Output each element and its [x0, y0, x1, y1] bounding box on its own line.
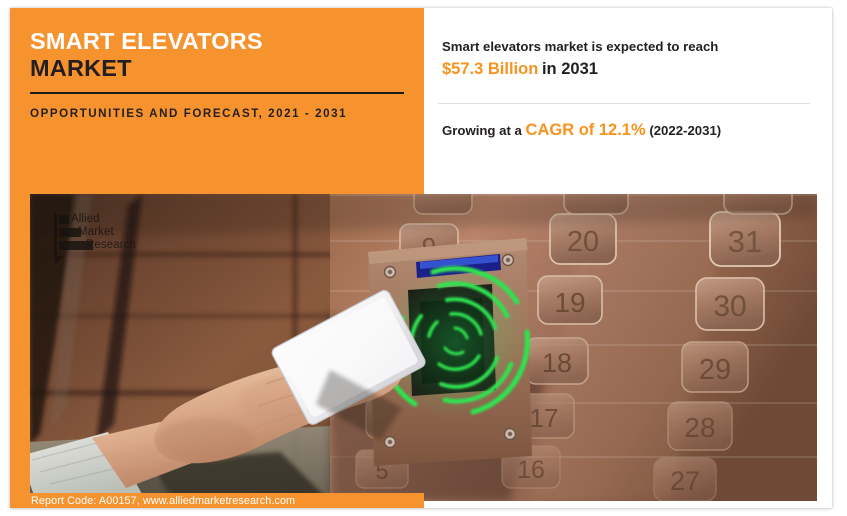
title-divider [30, 92, 404, 94]
svg-text:28: 28 [684, 412, 715, 443]
infographic-card: SMART ELEVATORS MARKET Opportunities and… [10, 8, 832, 508]
fact-cagr: Growing at a CAGR of 12.1% (2022-2031) [442, 118, 814, 142]
svg-text:17: 17 [530, 403, 559, 433]
fact-market-size: Smart elevators market is expected to re… [442, 37, 814, 81]
elevator-photo-illustration: 9 8 7 6 5 20 19 18 [30, 194, 817, 501]
fact-cagr-suffix: (2022-2031) [649, 123, 721, 138]
svg-text:30: 30 [713, 290, 746, 323]
svg-text:31: 31 [728, 224, 762, 259]
svg-text:18: 18 [542, 348, 572, 378]
fact-cagr-prefix: Growing at a [442, 123, 522, 138]
fact-market-size-value: $57.3 Billion [442, 60, 538, 78]
page-title: SMART ELEVATORS MARKET [30, 28, 405, 82]
svg-text:27: 27 [670, 466, 700, 496]
page-subtitle: Opportunities and Forecast, 2021 - 2031 [30, 105, 410, 123]
svg-text:16: 16 [517, 456, 545, 484]
svg-text:20: 20 [567, 226, 599, 258]
key-facts-panel: Smart elevators market is expected to re… [424, 8, 832, 194]
fact-market-size-prefix: Smart elevators market is expected to re… [442, 39, 718, 54]
svg-text:29: 29 [699, 354, 731, 386]
footer-report-code: Report Code: A00157, www.alliedmarketres… [31, 495, 295, 507]
title-line-2: MARKET [30, 55, 405, 82]
facts-divider [438, 103, 810, 104]
fact-cagr-value: CAGR of 12.1% [526, 121, 646, 139]
title-line-1: SMART ELEVATORS [30, 28, 405, 55]
hero-photo: 9 8 7 6 5 20 19 18 [30, 194, 817, 501]
svg-text:19: 19 [554, 287, 585, 318]
fact-market-size-suffix: in 2031 [542, 60, 598, 78]
